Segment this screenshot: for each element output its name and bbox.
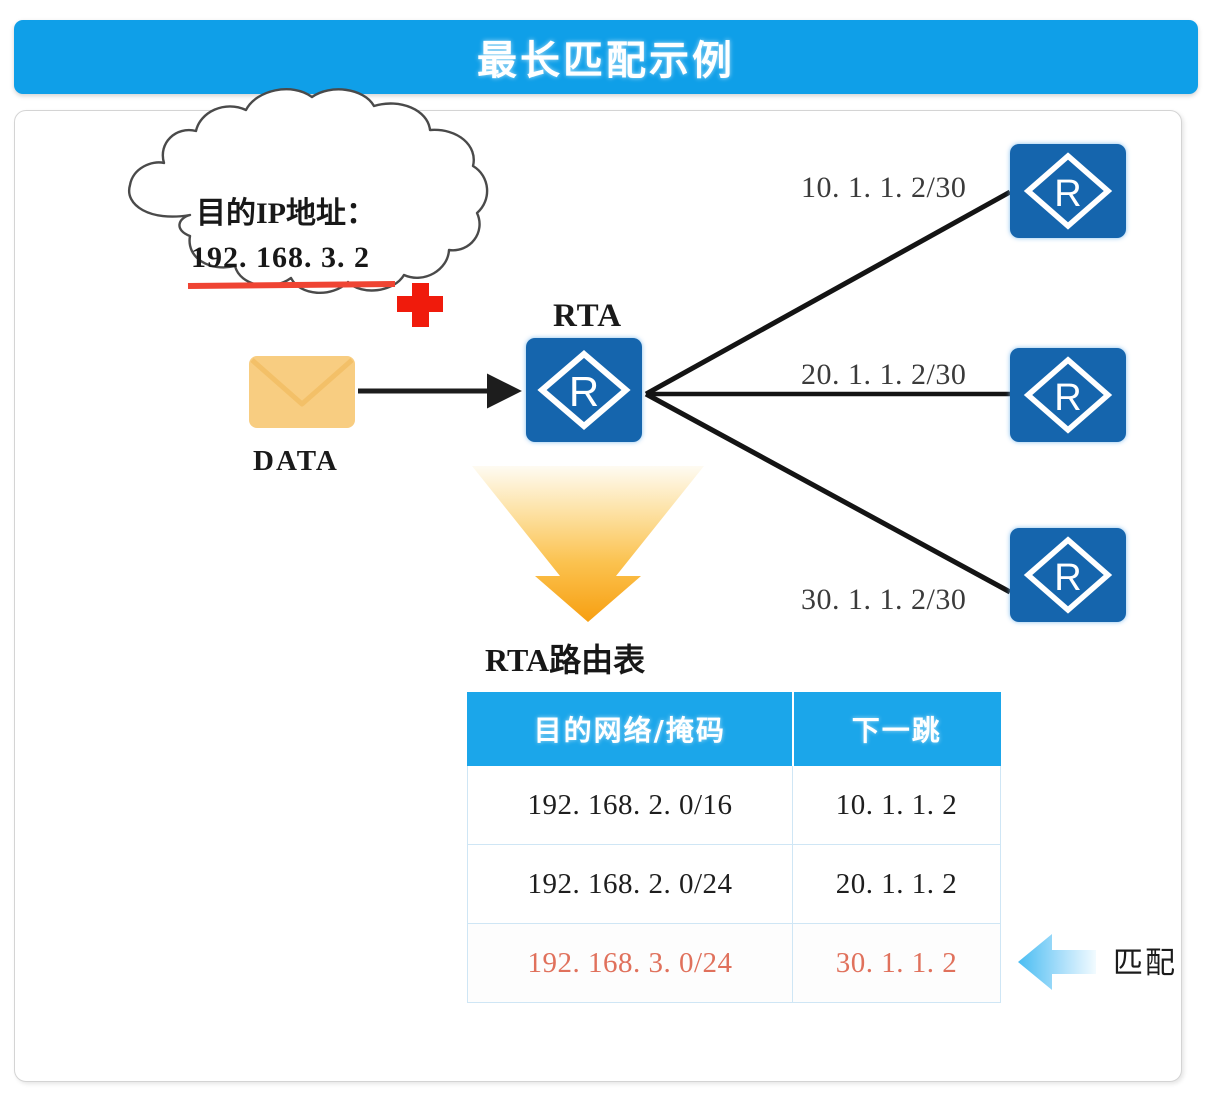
destination-ip-label: 目的IP地址：	[196, 188, 376, 232]
destination-ip-value: 192. 168. 3. 2	[191, 241, 370, 275]
link-label-bottom: 30. 1. 1. 2/30	[801, 583, 966, 617]
column-header-destination: 目的网络/掩码	[468, 693, 793, 766]
svg-text:R: R	[1054, 173, 1081, 215]
table-row[interactable]: 192. 168. 2. 0/16 10. 1. 1. 2	[468, 766, 1001, 845]
cell-destination: 192. 168. 2. 0/24	[468, 845, 793, 924]
link-label-middle: 20. 1. 1. 2/30	[801, 358, 966, 392]
cell-destination: 192. 168. 3. 0/24	[468, 924, 793, 1003]
page-title: 最长匹配示例	[477, 28, 735, 86]
routing-table: 目的网络/掩码 下一跳 192. 168. 2. 0/16 10. 1. 1. …	[467, 692, 1001, 1003]
packet-label: DATA	[253, 445, 339, 478]
title-banner: 最长匹配示例	[14, 20, 1198, 94]
table-header-row: 目的网络/掩码 下一跳	[468, 693, 1001, 766]
column-header-nexthop: 下一跳	[793, 693, 1001, 766]
router-icon-peer-2[interactable]: R	[1010, 348, 1126, 442]
cell-nexthop: 10. 1. 1. 2	[793, 766, 1001, 845]
link-label-top: 10. 1. 1. 2/30	[801, 171, 966, 205]
cell-nexthop: 20. 1. 1. 2	[793, 845, 1001, 924]
table-row[interactable]: 192. 168. 2. 0/24 20. 1. 1. 2	[468, 845, 1001, 924]
rta-router-label: RTA	[553, 298, 622, 335]
router-icon-rta[interactable]: R	[526, 338, 642, 442]
svg-text:R: R	[569, 368, 599, 415]
table-row-matched[interactable]: 192. 168. 3. 0/24 30. 1. 1. 2	[468, 924, 1001, 1003]
svg-text:R: R	[1054, 557, 1081, 599]
match-annotation-label: 匹配	[1113, 938, 1177, 982]
cell-destination: 192. 168. 2. 0/16	[468, 766, 793, 845]
routing-table-title: RTA路由表	[485, 635, 645, 681]
router-icon-peer-3[interactable]: R	[1010, 528, 1126, 622]
cell-nexthop: 30. 1. 1. 2	[793, 924, 1001, 1003]
svg-text:R: R	[1054, 377, 1081, 419]
router-icon-peer-1[interactable]: R	[1010, 144, 1126, 238]
